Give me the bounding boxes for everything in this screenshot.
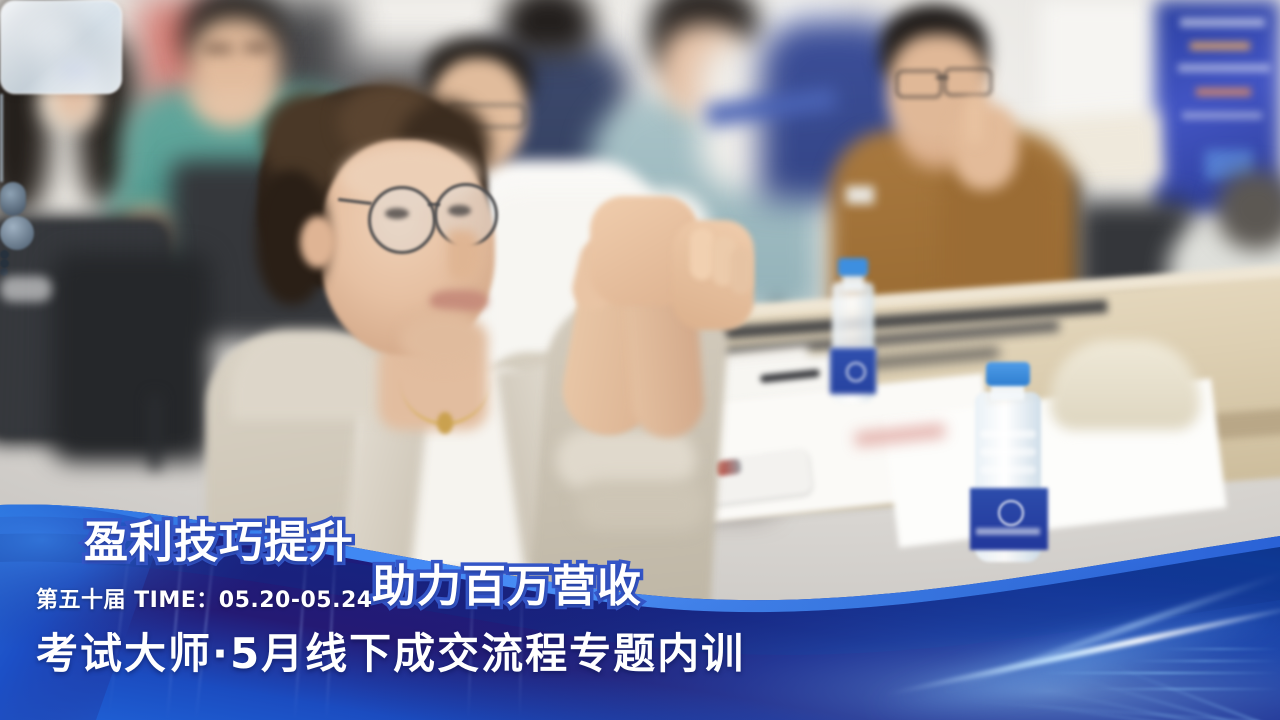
beige-cap xyxy=(1050,340,1200,430)
attendee-hand-on-chin xyxy=(952,104,1018,190)
headline-line-1: 盈利技巧提升 xyxy=(84,506,354,570)
attendee-eyebrow xyxy=(243,44,271,51)
headline-line-2: 助力百万营收 xyxy=(372,550,642,614)
subject-finger xyxy=(730,248,752,294)
camera-sub-lens xyxy=(0,259,9,268)
headline-line-1-text: 盈利技巧提升 xyxy=(84,517,354,568)
subject-shoulder xyxy=(230,330,380,420)
eyeglasses-bridge xyxy=(936,76,948,79)
chair-leg xyxy=(150,395,160,470)
bottle-label-text xyxy=(976,528,1040,535)
subject-lips xyxy=(430,290,488,312)
attendee-finger xyxy=(966,96,983,144)
poster-text-line xyxy=(1182,112,1262,119)
poster-text-line xyxy=(1180,18,1265,27)
eyeglasses-bridge xyxy=(428,203,440,206)
bottle-rib xyxy=(980,466,1036,474)
office-chair-foreground xyxy=(52,252,212,462)
bottle-logo xyxy=(846,362,866,382)
camera-sub-lens xyxy=(0,250,9,259)
bottle-rib xyxy=(980,430,1036,438)
subject-sleeve-fold xyxy=(576,480,706,530)
subject-ear xyxy=(300,216,336,268)
poster-text-line xyxy=(1178,64,1270,72)
eyeglasses-lens xyxy=(944,68,992,96)
subject-chin xyxy=(400,312,488,368)
main-title: 考试大师·5月线下成交流程专题内训 xyxy=(36,620,745,681)
poster-text-line xyxy=(1190,42,1250,50)
screenshot-canvas: 盈利技巧提升 助力百万营收 第五十届 TIME：05.20-05.24 考试大师… xyxy=(0,0,1280,720)
poster-text-line xyxy=(1196,88,1251,96)
smartphone-hinge xyxy=(0,94,3,182)
edition-and-date-line: 第五十届 TIME：05.20-05.24 xyxy=(36,582,373,614)
sleeve-tag xyxy=(846,186,874,204)
bottle-logo xyxy=(998,500,1024,526)
round-eyeglasses-lens xyxy=(368,186,436,254)
smartphone-held-up xyxy=(0,0,122,94)
smartphone-glare xyxy=(0,276,52,302)
eyeglasses-lens xyxy=(896,70,942,98)
attendee-hair xyxy=(1216,170,1280,250)
camera-sub-lens xyxy=(0,268,8,276)
attendee-eyebrow xyxy=(203,45,233,52)
bottle-cap xyxy=(838,258,868,276)
necklace-pendant xyxy=(437,412,453,434)
subject-nose xyxy=(448,230,480,280)
headline-line-2-text: 助力百万营收 xyxy=(372,561,642,612)
smartphone-camera-module xyxy=(0,216,34,250)
smartphone-camera-lens xyxy=(0,182,26,216)
bottle-rib xyxy=(980,448,1036,456)
bottle-cap xyxy=(986,362,1030,386)
subject-finger xyxy=(690,228,714,280)
